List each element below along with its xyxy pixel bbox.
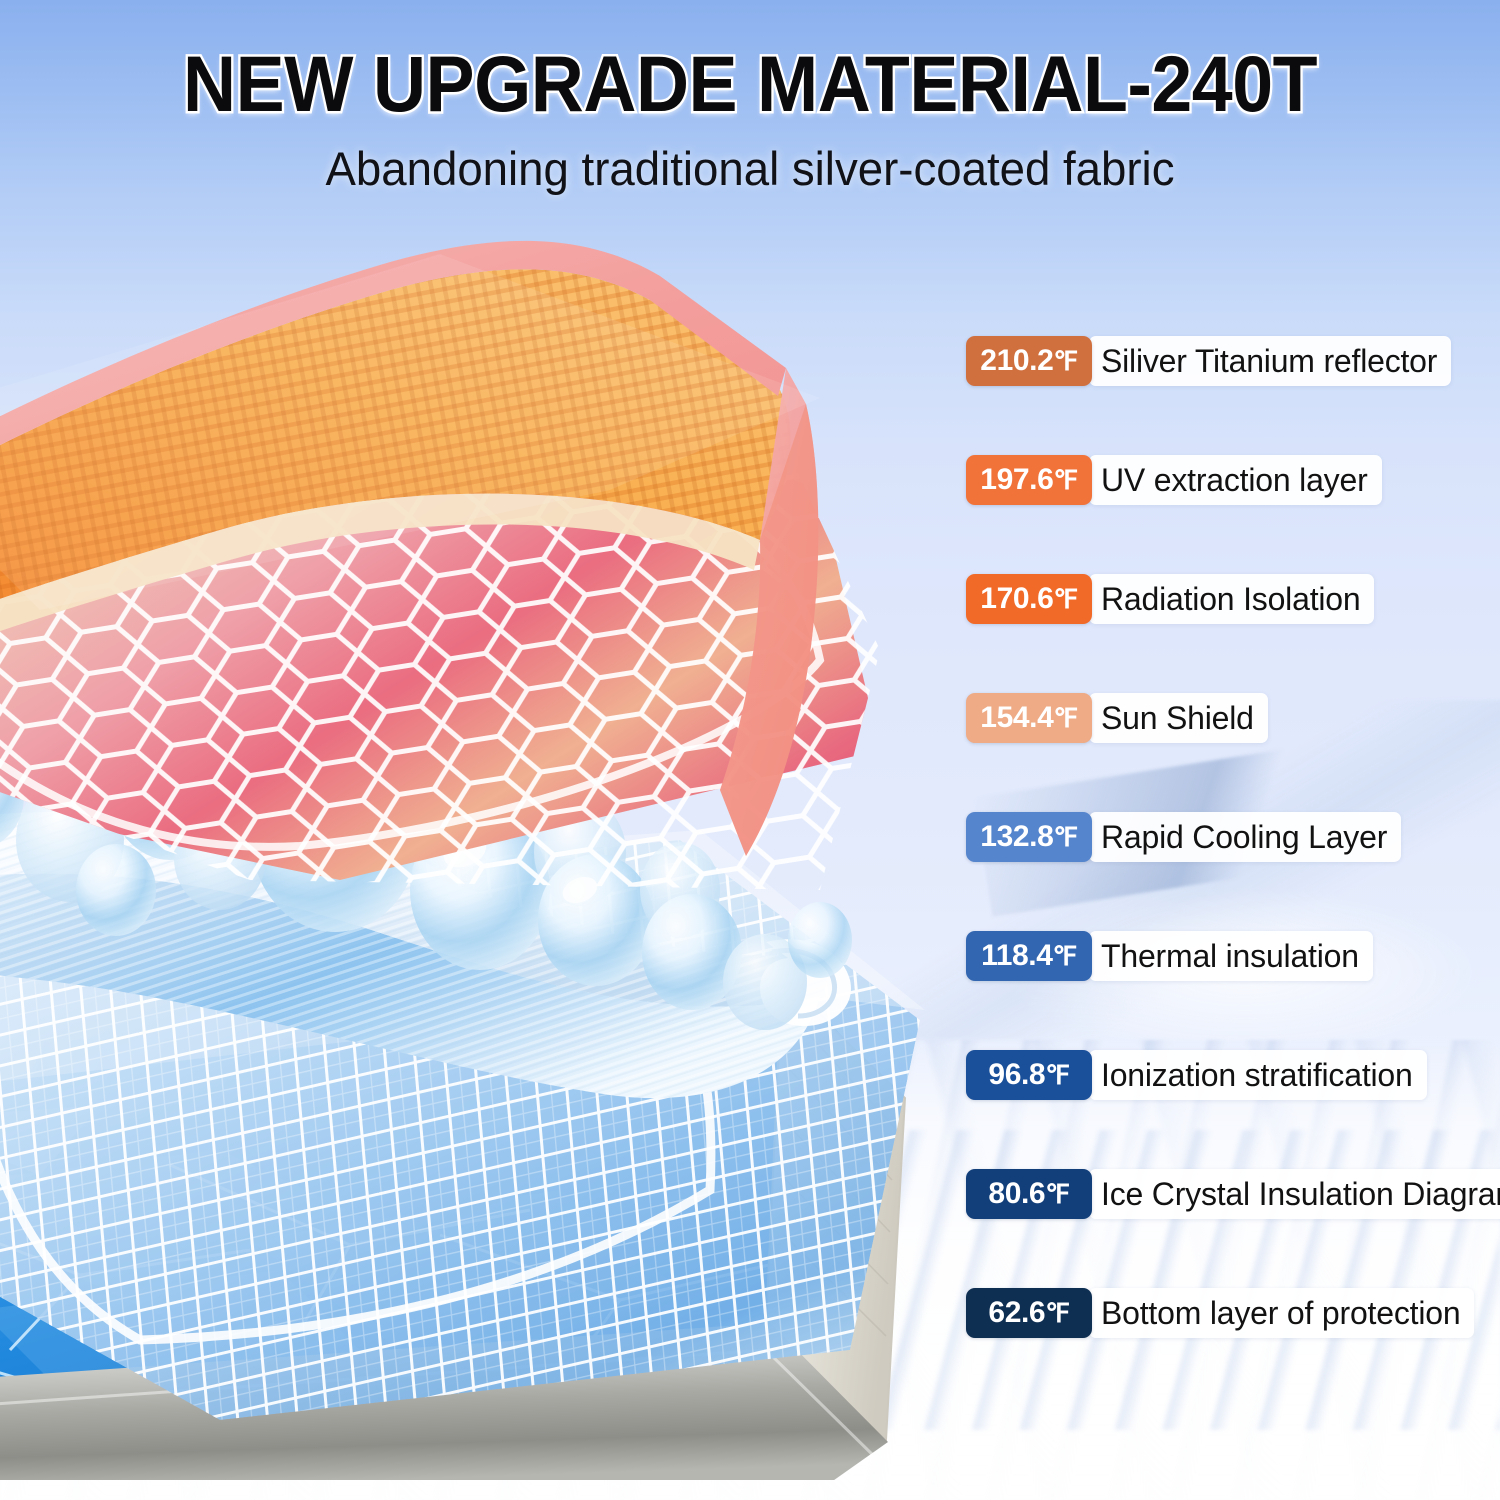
temperature-value: 80.6 — [988, 1177, 1045, 1211]
degree-unit: ℉ — [1053, 703, 1077, 734]
temperature-value: 96.8 — [988, 1058, 1045, 1092]
layer-name: Siliver Titanium reflector — [1089, 336, 1451, 386]
temperature-badge: 118.4℉ — [966, 931, 1092, 981]
degree-unit: ℉ — [1053, 346, 1077, 377]
title-block: NEW UPGRADE MATERIAL-240T Abandoning tra… — [0, 44, 1500, 196]
degree-unit: ℉ — [1053, 584, 1077, 615]
temperature-value: 132.8 — [980, 820, 1053, 854]
temperature-badge: 96.8℉ — [966, 1050, 1092, 1100]
layer-name: Thermal insulation — [1089, 931, 1373, 981]
layer-spec-list: 210.2℉ Siliver Titanium reflector 197.6℉… — [966, 336, 1500, 1338]
temperature-badge: 132.8℉ — [966, 812, 1092, 862]
page-subtitle: Abandoning traditional silver-coated fab… — [23, 141, 1478, 196]
temperature-value: 154.4 — [980, 701, 1053, 735]
spec-row: 197.6℉ UV extraction layer — [966, 455, 1500, 505]
layer-name: Rapid Cooling Layer — [1089, 812, 1401, 862]
temperature-badge: 80.6℉ — [966, 1169, 1092, 1219]
layer-name: Sun Shield — [1089, 693, 1268, 743]
temperature-value: 118.4 — [981, 939, 1052, 973]
degree-unit: ℉ — [1045, 1060, 1069, 1091]
temperature-value: 62.6 — [988, 1296, 1045, 1330]
degree-unit: ℉ — [1045, 1298, 1069, 1329]
spec-row: 80.6℉ Ice Crystal Insulation Diagram — [966, 1169, 1500, 1219]
spec-row: 132.8℉ Rapid Cooling Layer — [966, 812, 1500, 862]
layer-name: Bottom layer of protection — [1089, 1288, 1474, 1338]
degree-unit: ℉ — [1053, 465, 1077, 496]
temperature-badge: 170.6℉ — [966, 574, 1092, 624]
layer-name: Radiation Isolation — [1089, 574, 1374, 624]
degree-unit: ℉ — [1053, 941, 1077, 972]
degree-unit: ℉ — [1053, 822, 1077, 853]
temperature-badge: 197.6℉ — [966, 455, 1092, 505]
spec-row: 96.8℉ Ionization stratification — [966, 1050, 1500, 1100]
spec-row: 62.6℉ Bottom layer of protection — [966, 1288, 1500, 1338]
product-infographic: NEW UPGRADE MATERIAL-240T Abandoning tra… — [0, 0, 1500, 1500]
spec-row: 118.4℉ Thermal insulation — [966, 931, 1500, 981]
fabric-layers-illustration — [0, 190, 980, 1480]
spec-row: 210.2℉ Siliver Titanium reflector — [966, 336, 1500, 386]
temperature-value: 210.2 — [980, 344, 1053, 378]
layer-name: Ionization stratification — [1089, 1050, 1427, 1100]
temperature-badge: 62.6℉ — [966, 1288, 1092, 1338]
temperature-value: 197.6 — [980, 463, 1053, 497]
degree-unit: ℉ — [1045, 1179, 1069, 1210]
temperature-badge: 154.4℉ — [966, 693, 1092, 743]
layer-name: Ice Crystal Insulation Diagram — [1089, 1169, 1500, 1219]
spec-row: 170.6℉ Radiation Isolation — [966, 574, 1500, 624]
page-title: NEW UPGRADE MATERIAL-240T — [53, 44, 1448, 123]
spec-row: 154.4℉ Sun Shield — [966, 693, 1500, 743]
temperature-value: 170.6 — [980, 582, 1053, 616]
temperature-badge: 210.2℉ — [966, 336, 1092, 386]
layer-name: UV extraction layer — [1089, 455, 1382, 505]
